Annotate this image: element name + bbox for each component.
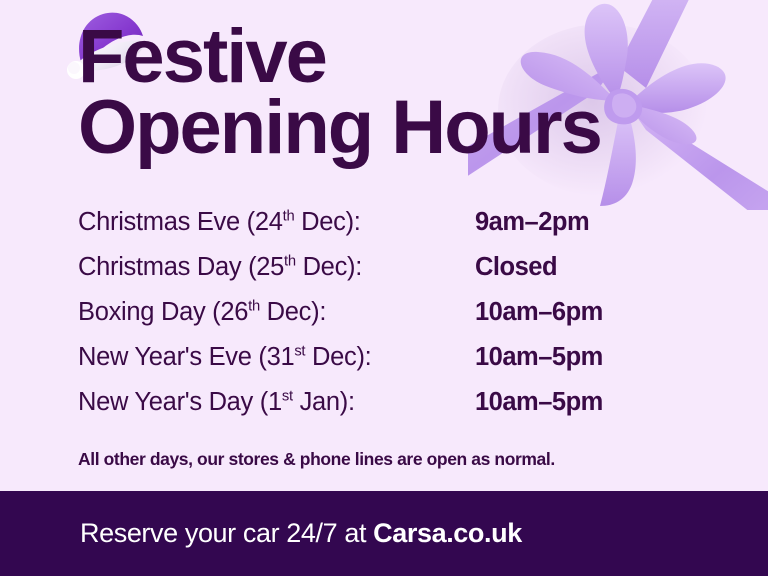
- hours-row-day: Christmas Day (25: [78, 253, 284, 281]
- hours-row: Boxing Day (26th Dec):10am–6pm: [78, 298, 698, 343]
- hours-row-value: 10am–5pm: [475, 343, 603, 372]
- hours-row-label: Christmas Day (25th Dec):: [78, 253, 475, 282]
- opening-hours-table: Christmas Eve (24th Dec):9am–2pmChristma…: [78, 208, 698, 433]
- hours-row-label: New Year's Day (1st Jan):: [78, 388, 475, 417]
- hours-row-value: 10am–6pm: [475, 298, 603, 327]
- festive-opening-hours-poster: Festive Opening Hours Christmas Eve (24t…: [0, 0, 768, 576]
- footnote: All other days, our stores & phone lines…: [78, 449, 555, 470]
- hours-row-ordinal: st: [282, 389, 293, 405]
- hours-row-ordinal: th: [284, 254, 296, 270]
- footer-banner: Reserve your car 24/7 at Carsa.co.uk: [0, 491, 768, 576]
- title-line-2: Opening Hours: [78, 93, 601, 164]
- hours-row-day-suffix: Dec):: [305, 343, 371, 371]
- hours-row-label: New Year's Eve (31st Dec):: [78, 343, 475, 372]
- hours-row-day-suffix: Dec):: [294, 208, 360, 236]
- page-title: Festive Opening Hours: [78, 22, 601, 163]
- hours-row-day: Christmas Eve (24: [78, 208, 283, 236]
- hours-row-value: 9am–2pm: [475, 208, 589, 237]
- hours-row-value: 10am–5pm: [475, 388, 603, 417]
- hours-row-day: Boxing Day (26: [78, 298, 248, 326]
- hours-row: Christmas Eve (24th Dec):9am–2pm: [78, 208, 698, 253]
- hours-row-day: New Year's Eve (31: [78, 343, 294, 371]
- footer-brand-name: Carsa.co.uk: [373, 518, 522, 548]
- hours-row-day: New Year's Day (1: [78, 388, 282, 416]
- hours-row-day-suffix: Jan):: [293, 388, 355, 416]
- hours-row-ordinal: th: [283, 209, 295, 225]
- title-line-1: Festive: [78, 22, 601, 93]
- hours-row: Christmas Day (25th Dec):Closed: [78, 253, 698, 298]
- hours-row-label: Christmas Eve (24th Dec):: [78, 208, 475, 237]
- hours-row-day-suffix: Dec):: [296, 253, 362, 281]
- hours-row-day-suffix: Dec):: [260, 298, 326, 326]
- footer-cta: Reserve your car 24/7 at Carsa.co.uk: [80, 518, 522, 549]
- hours-row-label: Boxing Day (26th Dec):: [78, 298, 475, 327]
- hours-row: New Year's Eve (31st Dec):10am–5pm: [78, 343, 698, 388]
- hours-row-ordinal: th: [248, 299, 260, 315]
- hours-row: New Year's Day (1st Jan):10am–5pm: [78, 388, 698, 433]
- hours-row-value: Closed: [475, 253, 557, 282]
- hours-row-ordinal: st: [294, 344, 305, 360]
- footer-lead-text: Reserve your car 24/7 at: [80, 518, 373, 548]
